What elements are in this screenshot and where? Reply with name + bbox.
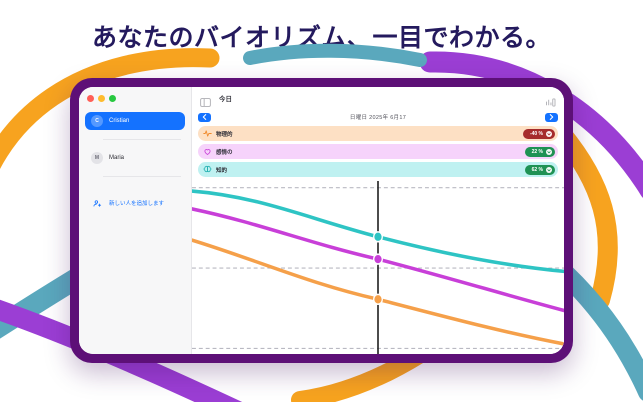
sidebar-item-maria[interactable]: M Maria <box>85 149 185 167</box>
today-point-emotional <box>374 254 383 264</box>
brain-icon <box>203 165 212 174</box>
date-navigation: 日曜日 2025年 6月17 <box>192 109 564 125</box>
hero-stage: あなたのバイオリズム、一目でわかる。 C <box>0 0 643 402</box>
sidebar-item-cristian[interactable]: C Cristian <box>85 112 185 130</box>
prev-day-button[interactable] <box>198 113 211 122</box>
main-panel: 今日 日曜日 2025年 6月17 <box>192 87 564 354</box>
window-titlebar <box>79 87 191 109</box>
today-point-intellectual <box>374 232 383 242</box>
today-point-physical <box>374 294 383 304</box>
metric-label: 物理的 <box>216 130 233 138</box>
metric-row-physical[interactable]: 物理的 -40 % <box>198 126 558 141</box>
biorhythm-chart[interactable] <box>192 181 564 354</box>
zoom-icon[interactable] <box>109 95 116 102</box>
close-icon[interactable] <box>87 95 94 102</box>
chart-svg <box>192 181 564 354</box>
status-badge[interactable]: 62 % <box>525 165 555 175</box>
app-window: C Cristian M Maria <box>70 78 573 363</box>
metric-value: 62 % <box>532 167 543 173</box>
status-badge[interactable]: 22 % <box>525 147 555 157</box>
next-day-button[interactable] <box>545 113 558 122</box>
metric-value: 22 % <box>532 149 543 155</box>
sidebar-item-label: Maria <box>109 155 124 161</box>
metric-label: 知的 <box>216 166 227 174</box>
chevron-down-icon <box>546 149 552 155</box>
current-date-label: 日曜日 2025年 6月17 <box>217 113 539 121</box>
add-person-button[interactable]: 新しい人を追加します <box>85 195 185 211</box>
main-title: 今日 <box>219 93 232 103</box>
sidebar: C Cristian M Maria <box>79 87 192 354</box>
sidebar-item-label: Cristian <box>109 118 129 124</box>
metric-value: -40 % <box>530 131 543 137</box>
minimize-icon[interactable] <box>98 95 105 102</box>
avatar: M <box>91 152 103 164</box>
add-person-icon <box>91 197 103 209</box>
status-badge[interactable]: -40 % <box>523 129 555 139</box>
divider <box>103 176 181 177</box>
divider <box>103 139 181 140</box>
metric-row-intellectual[interactable]: 知的 62 % <box>198 162 558 177</box>
chevron-down-icon <box>546 167 552 173</box>
sidebar-toggle-icon[interactable] <box>200 94 211 103</box>
avatar: C <box>91 115 103 127</box>
metrics-list: 物理的 -40 % <box>192 125 564 180</box>
heart-icon <box>203 147 212 156</box>
metric-row-emotional[interactable]: 感情の 22 % <box>198 144 558 159</box>
chart-panel-icon[interactable] <box>545 94 556 103</box>
metric-label: 感情の <box>216 148 233 156</box>
chevron-down-icon <box>546 131 552 137</box>
main-toolbar: 今日 <box>192 87 564 109</box>
add-person-label: 新しい人を追加します <box>109 199 164 207</box>
pulse-icon <box>203 129 212 138</box>
